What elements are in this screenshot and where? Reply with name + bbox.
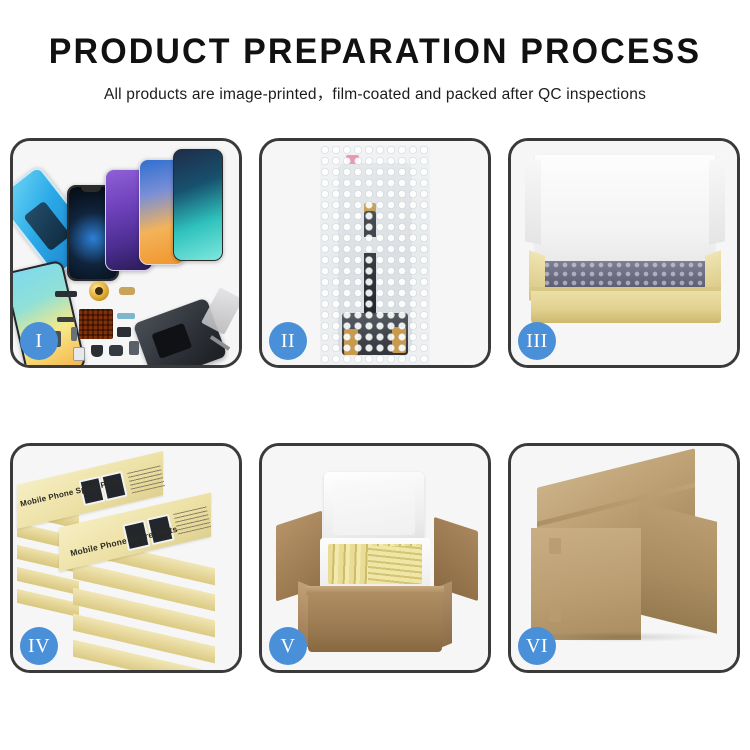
part-icon xyxy=(73,347,85,361)
process-step-panel-1[interactable]: I xyxy=(10,138,242,368)
carton-shadow xyxy=(533,632,713,642)
part-icon xyxy=(109,345,123,356)
box-front-icon xyxy=(531,291,721,323)
page-title: PRODUCT PREPARATION PROCESS xyxy=(11,34,739,71)
coil-part-icon xyxy=(89,281,109,301)
part-icon xyxy=(117,327,131,337)
carton-tape-icon xyxy=(549,606,561,622)
carton-front-icon xyxy=(308,592,442,652)
box-lid-icon xyxy=(535,155,715,263)
phone-teal-icon xyxy=(173,149,223,261)
page-subtitle: All products are image-printed，film-coat… xyxy=(0,82,750,104)
step-badge-2: II xyxy=(269,322,307,360)
step-badge-1: I xyxy=(20,322,58,360)
step-badge-4: IV xyxy=(20,627,58,665)
part-icon xyxy=(119,287,135,295)
process-step-panel-4[interactable]: Mobile Phone Spare Parts Mobile Phone Sp… xyxy=(10,443,242,673)
box-lid-side-icon xyxy=(525,157,541,244)
step-badge-5: V xyxy=(269,627,307,665)
step-badge-3: III xyxy=(518,322,556,360)
part-icon xyxy=(55,291,77,297)
part-icon xyxy=(91,345,103,357)
process-step-grid: I II xyxy=(10,138,740,673)
circuit-board-icon xyxy=(79,309,113,339)
carton-tape-icon xyxy=(549,538,561,554)
bubble-wrap-bag-icon xyxy=(320,145,430,365)
yellow-boxes-icon xyxy=(368,546,422,584)
process-step-panel-3[interactable]: III xyxy=(508,138,740,368)
step-badge-6: VI xyxy=(518,627,556,665)
process-step-panel-5[interactable]: V xyxy=(259,443,491,673)
part-icon xyxy=(57,317,75,322)
part-icon xyxy=(71,327,77,341)
process-step-panel-6[interactable]: VI xyxy=(508,443,740,673)
carton-front-face-icon xyxy=(531,528,641,640)
process-step-panel-2[interactable]: II xyxy=(259,138,491,368)
carton-right-face-icon xyxy=(639,502,717,633)
page-header: PRODUCT PREPARATION PROCESS All products… xyxy=(0,0,750,104)
part-icon xyxy=(129,341,139,355)
bubble-texture xyxy=(320,145,430,365)
part-icon xyxy=(117,313,135,319)
foam-lid-icon xyxy=(324,472,424,544)
box-lid-side-icon xyxy=(709,157,725,244)
